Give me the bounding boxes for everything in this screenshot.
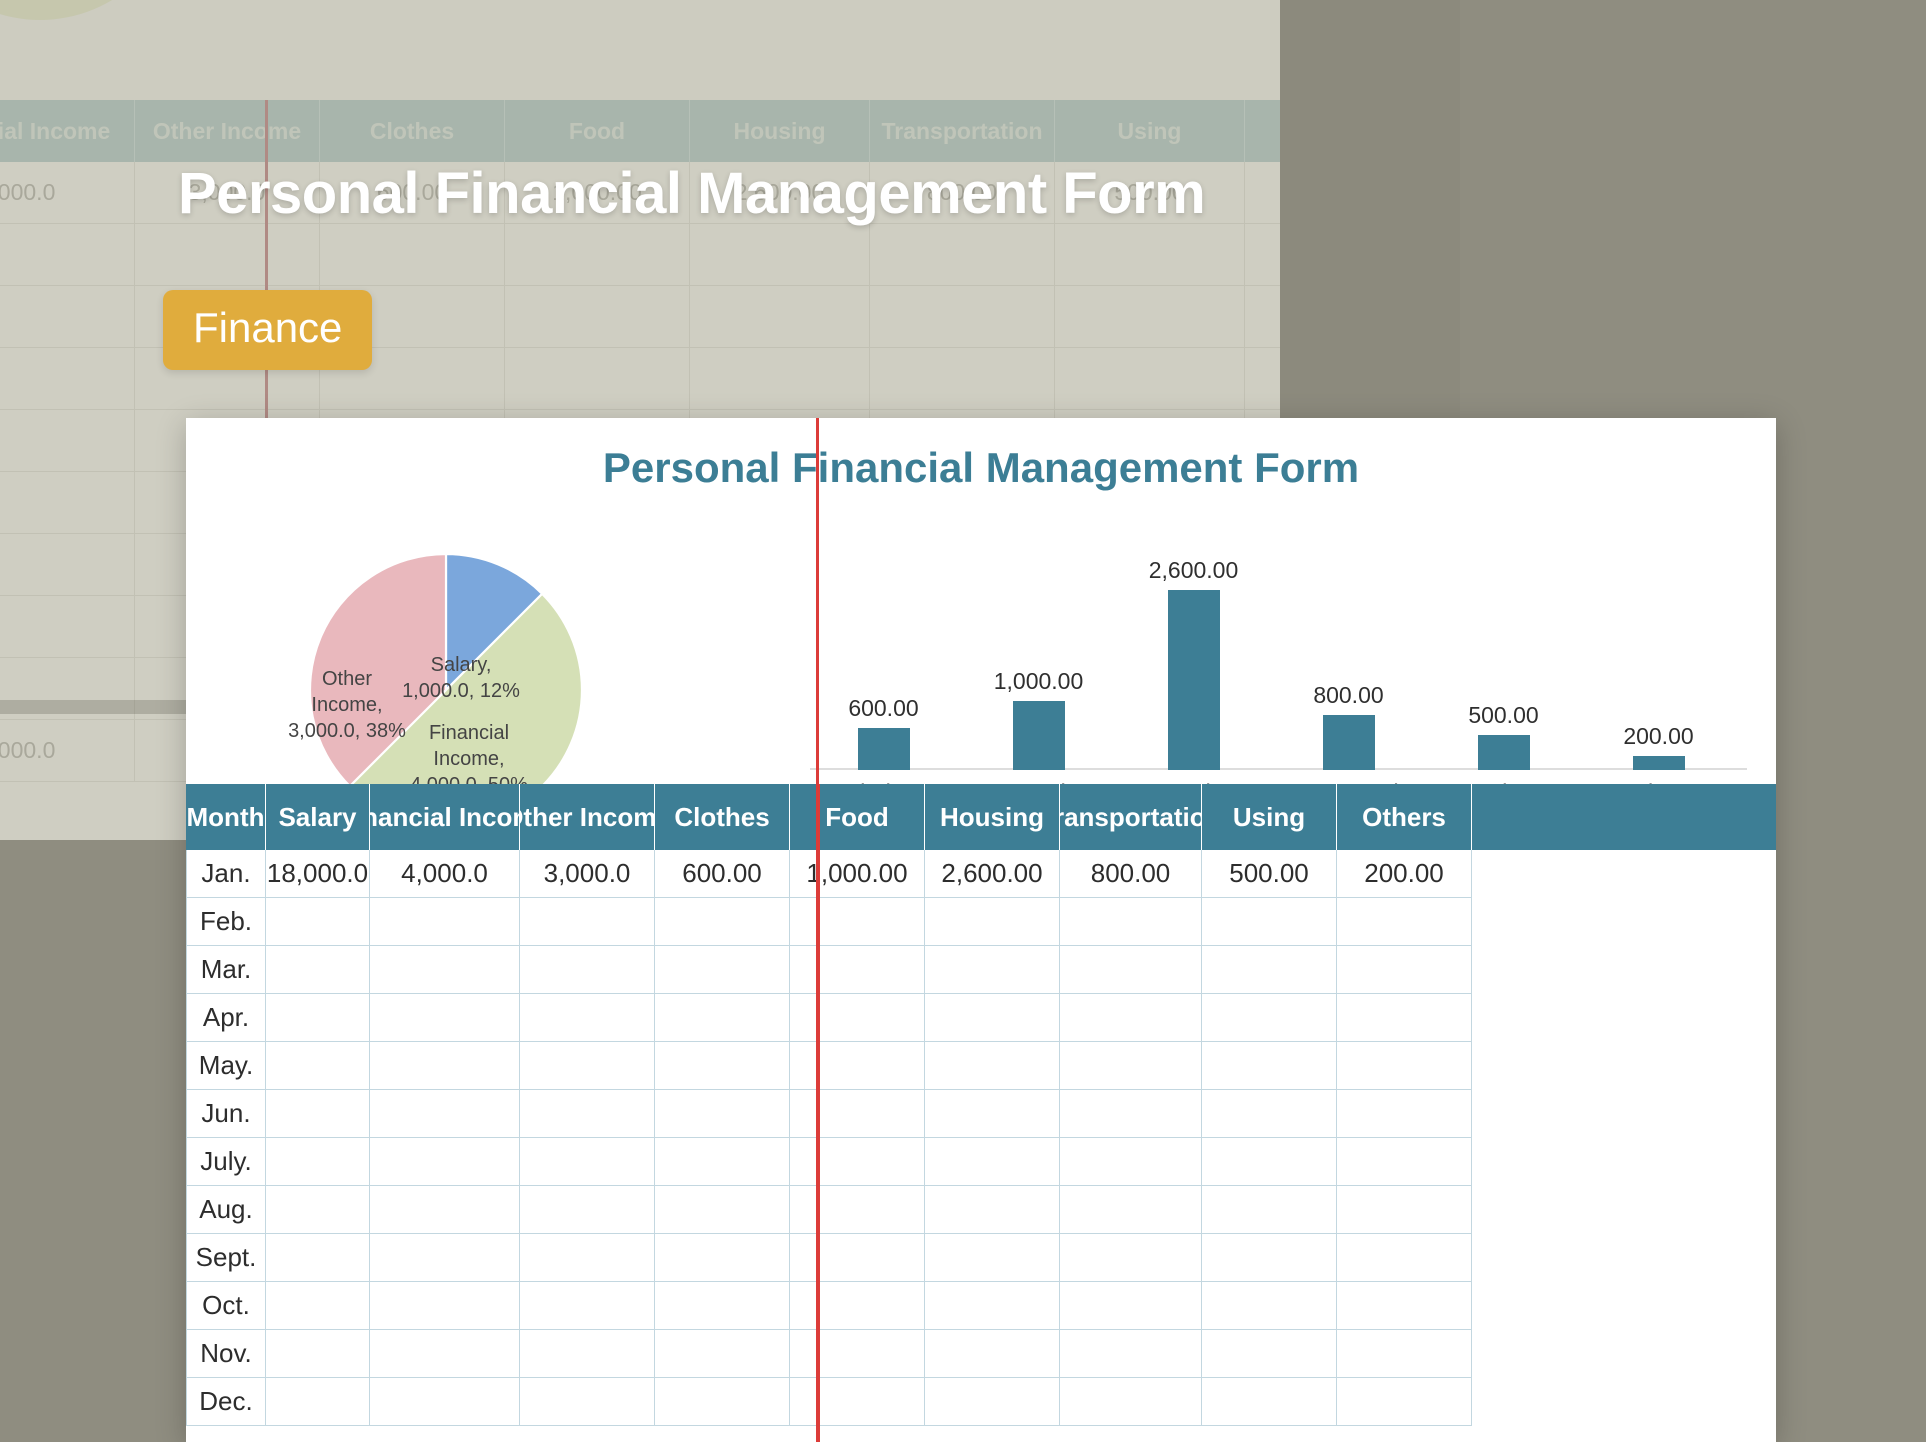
table-cell[interactable]: [1060, 1186, 1202, 1234]
table-row[interactable]: Oct.: [186, 1282, 1776, 1330]
table-cell[interactable]: [1060, 1282, 1202, 1330]
card-title: Personal Financial Management Form: [186, 444, 1776, 492]
table-header-row: MonthSalaryFinancial IncomeOther IncomeC…: [186, 784, 1776, 850]
table-header-cell[interactable]: Using: [1202, 784, 1337, 850]
table-cell[interactable]: [655, 1186, 790, 1234]
table-cell[interactable]: [1337, 1138, 1472, 1186]
table-cell[interactable]: [520, 1090, 655, 1138]
bar-column[interactable]: 800.00: [1271, 532, 1426, 770]
bar-rect: [1168, 590, 1220, 770]
table-cell[interactable]: 3,000.0: [520, 850, 655, 898]
table-row[interactable]: May.: [186, 1042, 1776, 1090]
background-table-cell: [870, 224, 1055, 286]
table-cell[interactable]: 1,000.00: [790, 850, 925, 898]
table-cell[interactable]: [925, 946, 1060, 994]
table-cell[interactable]: [790, 1090, 925, 1138]
bar-column[interactable]: 600.00: [806, 532, 961, 770]
bar-value-label: 500.00: [1468, 702, 1538, 729]
overlay-page-title: Personal Financial Management Form: [178, 160, 1205, 227]
table-cell[interactable]: [1337, 946, 1472, 994]
table-cell[interactable]: [1337, 1282, 1472, 1330]
table-row[interactable]: Sept.: [186, 1234, 1776, 1282]
finance-table[interactable]: MonthSalaryFinancial IncomeOther IncomeC…: [186, 784, 1776, 1426]
bar-value-label: 1,000.00: [994, 668, 1084, 695]
table-row[interactable]: Aug.: [186, 1186, 1776, 1234]
table-cell[interactable]: [925, 1042, 1060, 1090]
document-card: Personal Financial Management Form Salar…: [186, 418, 1776, 1442]
table-cell[interactable]: [370, 994, 520, 1042]
table-cell[interactable]: [1337, 898, 1472, 946]
background-table-cell: [690, 348, 870, 410]
table-cell[interactable]: [790, 1378, 925, 1426]
table-cell[interactable]: [925, 1378, 1060, 1426]
table-body[interactable]: Jan.18,000.04,000.03,000.0600.001,000.00…: [186, 850, 1776, 1426]
table-cell[interactable]: [266, 1282, 370, 1330]
background-table-header-cell: Clothes: [320, 100, 505, 162]
table-cell[interactable]: [1202, 1090, 1337, 1138]
table-cell[interactable]: [370, 1090, 520, 1138]
bar-value-label: 2,600.00: [1149, 557, 1239, 584]
bar-rect: [1323, 715, 1375, 770]
background-table-header-cell: Financial Income: [0, 100, 135, 162]
table-header-cell[interactable]: Housing: [925, 784, 1060, 850]
table-row[interactable]: Nov.: [186, 1330, 1776, 1378]
table-cell[interactable]: [1202, 946, 1337, 994]
table-cell[interactable]: [925, 1234, 1060, 1282]
table-cell[interactable]: [370, 1330, 520, 1378]
table-cell[interactable]: [790, 1330, 925, 1378]
background-table-cell: [505, 348, 690, 410]
table-header-cell[interactable]: Clothes: [655, 784, 790, 850]
table-header-cell[interactable]: Month: [186, 784, 266, 850]
background-table-header-cell: Housing: [690, 100, 870, 162]
table-cell[interactable]: [266, 898, 370, 946]
table-cell[interactable]: [1202, 1330, 1337, 1378]
table-cell[interactable]: 200.00: [1337, 850, 1472, 898]
table-cell[interactable]: [790, 898, 925, 946]
bar-rect: [1633, 756, 1685, 770]
table-cell[interactable]: [520, 1186, 655, 1234]
table-cell[interactable]: [370, 946, 520, 994]
table-cell[interactable]: [1337, 1186, 1472, 1234]
table-cell[interactable]: [925, 1330, 1060, 1378]
background-table-cell: [0, 534, 135, 596]
table-cell[interactable]: [370, 1042, 520, 1090]
table-cell[interactable]: 4,000.0: [370, 850, 520, 898]
table-cell[interactable]: 18,000.0: [266, 850, 370, 898]
table-cell[interactable]: Nov.: [186, 1330, 266, 1378]
table-cell[interactable]: [370, 898, 520, 946]
overlay-category-badge[interactable]: Finance: [163, 290, 372, 370]
table-cell[interactable]: 500.00: [1202, 850, 1337, 898]
table-cell[interactable]: [655, 1090, 790, 1138]
table-cell[interactable]: [790, 1138, 925, 1186]
background-table-cell: 4,000.0: [0, 720, 135, 782]
table-cell[interactable]: [790, 1186, 925, 1234]
table-cell[interactable]: Dec.: [186, 1378, 266, 1426]
background-table-cell: [870, 286, 1055, 348]
table-cell[interactable]: [1337, 1042, 1472, 1090]
table-cell[interactable]: Mar.: [186, 946, 266, 994]
background-table-cell: [135, 224, 320, 286]
table-row[interactable]: Dec.: [186, 1378, 1776, 1426]
table-cell[interactable]: [655, 1378, 790, 1426]
bar-rect: [858, 728, 910, 770]
table-cell[interactable]: [925, 898, 1060, 946]
card-guide-line: [816, 784, 820, 1442]
table-cell[interactable]: [266, 1378, 370, 1426]
table-cell[interactable]: [370, 1234, 520, 1282]
background-table-cell: [0, 472, 135, 534]
table-header-cell[interactable]: Transportation: [1060, 784, 1202, 850]
background-table-cell: [690, 286, 870, 348]
table-cell[interactable]: [370, 1186, 520, 1234]
table-cell[interactable]: [1060, 1330, 1202, 1378]
table-cell[interactable]: [790, 1234, 925, 1282]
background-table-cell: [1055, 348, 1245, 410]
table-cell[interactable]: [790, 1042, 925, 1090]
table-cell[interactable]: 600.00: [655, 850, 790, 898]
pie-label-salary: Salary, 1,000.0, 12%: [396, 652, 526, 704]
table-header-cell[interactable]: Salary: [266, 784, 370, 850]
table-row[interactable]: Mar.: [186, 946, 1776, 994]
table-cell[interactable]: [1202, 1186, 1337, 1234]
table-cell[interactable]: [790, 1282, 925, 1330]
table-cell[interactable]: May.: [186, 1042, 266, 1090]
table-cell[interactable]: [655, 1282, 790, 1330]
bar-chart[interactable]: 600.001,000.002,600.00800.00500.00200.00…: [806, 522, 1751, 822]
table-row[interactable]: Jun.: [186, 1090, 1776, 1138]
table-cell[interactable]: [1060, 1138, 1202, 1186]
background-table-cell: [0, 224, 135, 286]
table-cell[interactable]: [520, 898, 655, 946]
table-cell[interactable]: [266, 1234, 370, 1282]
table-cell[interactable]: [520, 1282, 655, 1330]
table-cell[interactable]: Jun.: [186, 1090, 266, 1138]
table-row[interactable]: Jan.18,000.04,000.03,000.0600.001,000.00…: [186, 850, 1776, 898]
table-cell[interactable]: [1337, 1090, 1472, 1138]
table-cell[interactable]: [655, 994, 790, 1042]
table-cell[interactable]: [520, 994, 655, 1042]
table-cell[interactable]: [655, 946, 790, 994]
background-table-header-cell: Food: [505, 100, 690, 162]
bar-value-label: 800.00: [1313, 682, 1383, 709]
table-cell[interactable]: [655, 1138, 790, 1186]
bar-rect: [1478, 735, 1530, 770]
table-cell[interactable]: Sept.: [186, 1234, 266, 1282]
table-cell[interactable]: Apr.: [186, 994, 266, 1042]
card-guide-line-top: [816, 418, 819, 784]
table-cell[interactable]: [370, 1282, 520, 1330]
bar-column[interactable]: 200.00: [1581, 532, 1736, 770]
table-cell[interactable]: [266, 1042, 370, 1090]
table-cell[interactable]: [790, 994, 925, 1042]
background-table-header-cell: Using: [1055, 100, 1245, 162]
table-cell[interactable]: [370, 1138, 520, 1186]
table-cell[interactable]: [520, 1234, 655, 1282]
background-table-cell: [505, 286, 690, 348]
table-cell[interactable]: [655, 898, 790, 946]
table-cell[interactable]: Oct.: [186, 1282, 266, 1330]
table-cell[interactable]: [1337, 994, 1472, 1042]
table-cell[interactable]: [655, 1234, 790, 1282]
bar-value-label: 200.00: [1623, 723, 1693, 750]
table-cell[interactable]: [1337, 1234, 1472, 1282]
table-cell[interactable]: [1202, 994, 1337, 1042]
table-cell[interactable]: Jan.: [186, 850, 266, 898]
table-cell[interactable]: [655, 1330, 790, 1378]
table-cell[interactable]: [925, 1186, 1060, 1234]
background-table-cell: [320, 224, 505, 286]
background-table-header-cell: Transportation: [870, 100, 1055, 162]
table-cell[interactable]: [1202, 1138, 1337, 1186]
table-cell[interactable]: [1060, 1378, 1202, 1426]
table-header-cell[interactable]: Others: [1337, 784, 1472, 850]
table-cell[interactable]: [1337, 1330, 1472, 1378]
table-cell[interactable]: [1337, 1378, 1472, 1426]
table-cell[interactable]: [266, 1138, 370, 1186]
background-table-cell: [505, 224, 690, 286]
table-cell[interactable]: 800.00: [1060, 850, 1202, 898]
bar-value-label: 600.00: [848, 695, 918, 722]
table-cell[interactable]: [520, 1378, 655, 1426]
table-cell[interactable]: [1060, 1234, 1202, 1282]
table-cell[interactable]: [1202, 1042, 1337, 1090]
table-cell[interactable]: [266, 1186, 370, 1234]
table-cell[interactable]: [1060, 994, 1202, 1042]
background-table-cell: [0, 286, 135, 348]
bar-column[interactable]: 500.00: [1426, 532, 1581, 770]
table-row[interactable]: July.: [186, 1138, 1776, 1186]
table-cell[interactable]: Aug.: [186, 1186, 266, 1234]
background-table-cell: [1055, 224, 1245, 286]
table-cell[interactable]: [266, 1330, 370, 1378]
background-table-header-cell: Other Income: [135, 100, 320, 162]
table-cell[interactable]: [655, 1042, 790, 1090]
table-cell[interactable]: [925, 1090, 1060, 1138]
background-table-cell: [0, 596, 135, 658]
table-cell[interactable]: [1060, 1090, 1202, 1138]
table-header-cell[interactable]: Financial Income: [370, 784, 520, 850]
table-cell[interactable]: [1202, 898, 1337, 946]
table-cell[interactable]: [1202, 1282, 1337, 1330]
pie-label-other-income: Other Income, 3,000.0, 38%: [282, 666, 412, 744]
table-cell[interactable]: July.: [186, 1138, 266, 1186]
table-cell[interactable]: Feb.: [186, 898, 266, 946]
table-row[interactable]: Feb.: [186, 898, 1776, 946]
table-cell[interactable]: [520, 1042, 655, 1090]
screenshot-stage: Financial Income, 4,000.0, 50% 600.001,0…: [0, 0, 1926, 1442]
table-cell[interactable]: [266, 946, 370, 994]
table-cell[interactable]: [1060, 1042, 1202, 1090]
background-table-cell: [0, 410, 135, 472]
table-cell[interactable]: [1202, 1378, 1337, 1426]
background-table-row: [0, 224, 1320, 286]
bar-column[interactable]: 1,000.00: [961, 532, 1116, 770]
bar-column[interactable]: 2,600.00: [1116, 532, 1271, 770]
background-table-cell: [0, 348, 135, 410]
bar-rect: [1013, 701, 1065, 770]
table-cell[interactable]: [1202, 1234, 1337, 1282]
table-cell[interactable]: [266, 994, 370, 1042]
table-cell[interactable]: 2,600.00: [925, 850, 1060, 898]
table-cell[interactable]: [520, 1138, 655, 1186]
background-table-cell: [690, 224, 870, 286]
table-cell[interactable]: [1060, 898, 1202, 946]
table-cell[interactable]: [925, 994, 1060, 1042]
background-table-cell: [1055, 286, 1245, 348]
table-cell[interactable]: [520, 946, 655, 994]
background-table-header: Financial IncomeOther IncomeClothesFoodH…: [0, 100, 1320, 162]
table-cell[interactable]: [1060, 946, 1202, 994]
table-header-cell[interactable]: Other Income: [520, 784, 655, 850]
table-cell[interactable]: [266, 1090, 370, 1138]
background-table-cell: 4,000.0: [0, 162, 135, 224]
table-cell[interactable]: [925, 1138, 1060, 1186]
table-cell[interactable]: [790, 946, 925, 994]
table-cell[interactable]: [925, 1282, 1060, 1330]
table-header-cell[interactable]: Food: [790, 784, 925, 850]
table-row[interactable]: Apr.: [186, 994, 1776, 1042]
table-cell[interactable]: [520, 1330, 655, 1378]
table-cell[interactable]: [370, 1378, 520, 1426]
background-table-cell: [870, 348, 1055, 410]
